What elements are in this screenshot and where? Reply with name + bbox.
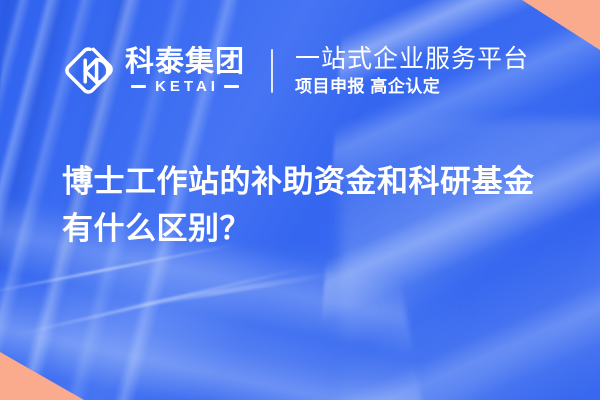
wordmark-dash-right — [224, 85, 239, 88]
brand-logo: 科泰集团 KETAI — [62, 44, 245, 98]
background-glow — [60, 250, 480, 400]
slogan-block: 一站式企业服务平台 项目申报 高企认定 — [295, 46, 529, 97]
header-divider — [271, 49, 273, 93]
brand-name-en: KETAI — [151, 79, 219, 94]
slogan-secondary: 项目申报 高企认定 — [295, 78, 529, 97]
banner-header: 科泰集团 KETAI 一站式企业服务平台 项目申报 高企认定 — [62, 44, 529, 98]
brand-wordmark: 科泰集团 KETAI — [125, 48, 245, 94]
brand-name-en-row: KETAI — [125, 79, 245, 94]
headline-line-2: 有什么区别？ — [62, 205, 562, 252]
ketai-diamond-kd-monogram-icon — [62, 44, 116, 98]
slogan-primary: 一站式企业服务平台 — [295, 46, 529, 73]
wordmark-dash-left — [131, 85, 146, 88]
brand-name-cn: 科泰集团 — [125, 48, 245, 77]
promo-banner: 科泰集团 KETAI 一站式企业服务平台 项目申报 高企认定 博士工作站的补助资… — [0, 0, 600, 400]
headline-line-1: 博士工作站的补助资金和科研基金 — [62, 158, 562, 205]
headline: 博士工作站的补助资金和科研基金 有什么区别？ — [62, 158, 562, 252]
